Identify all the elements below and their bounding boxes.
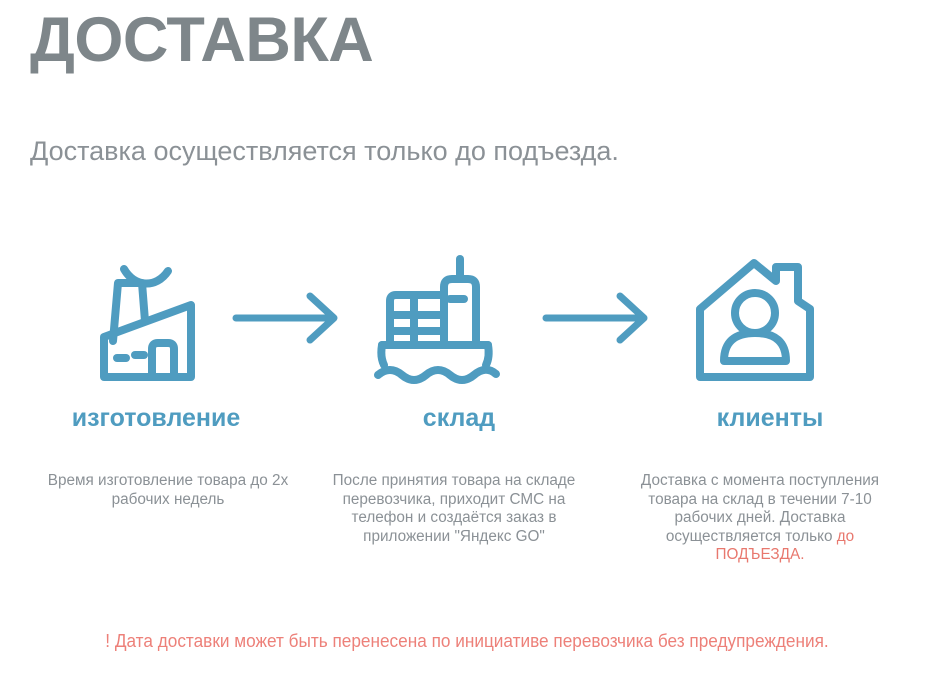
flow-label-clients: клиенты — [606, 404, 934, 433]
page-title: ДОСТАВКА — [30, 6, 373, 75]
flow-labels: изготовление склад клиенты — [0, 404, 934, 438]
flow-diagram — [0, 248, 934, 398]
page-subtitle: Доставка осуществляется только до подъез… — [30, 134, 650, 170]
flow-step-clients — [678, 248, 838, 398]
flow-description-warehouse: После принятия товара на складе перевозч… — [312, 472, 596, 546]
arrow-right-icon-1 — [232, 288, 344, 348]
flow-label-warehouse: склад — [312, 404, 606, 433]
arrow-right-icon-2 — [542, 288, 654, 348]
flow-step-warehouse — [362, 248, 522, 398]
cargo-ship-icon — [372, 253, 512, 393]
flow-step-manufacturing — [80, 248, 240, 398]
footer-warning-text: ! Дата доставки может быть перенесена по… — [70, 628, 864, 654]
house-client-icon — [688, 253, 828, 393]
flow-description-manufacturing: Время изготовление товара до 2х рабочих … — [42, 472, 294, 509]
factory-icon — [90, 253, 230, 393]
flow-description-clients: Доставка с момента поступления товара на… — [624, 472, 896, 565]
flow-label-manufacturing: изготовление — [0, 404, 312, 433]
flow-descriptions: Время изготовление товара до 2х рабочих … — [0, 472, 934, 597]
